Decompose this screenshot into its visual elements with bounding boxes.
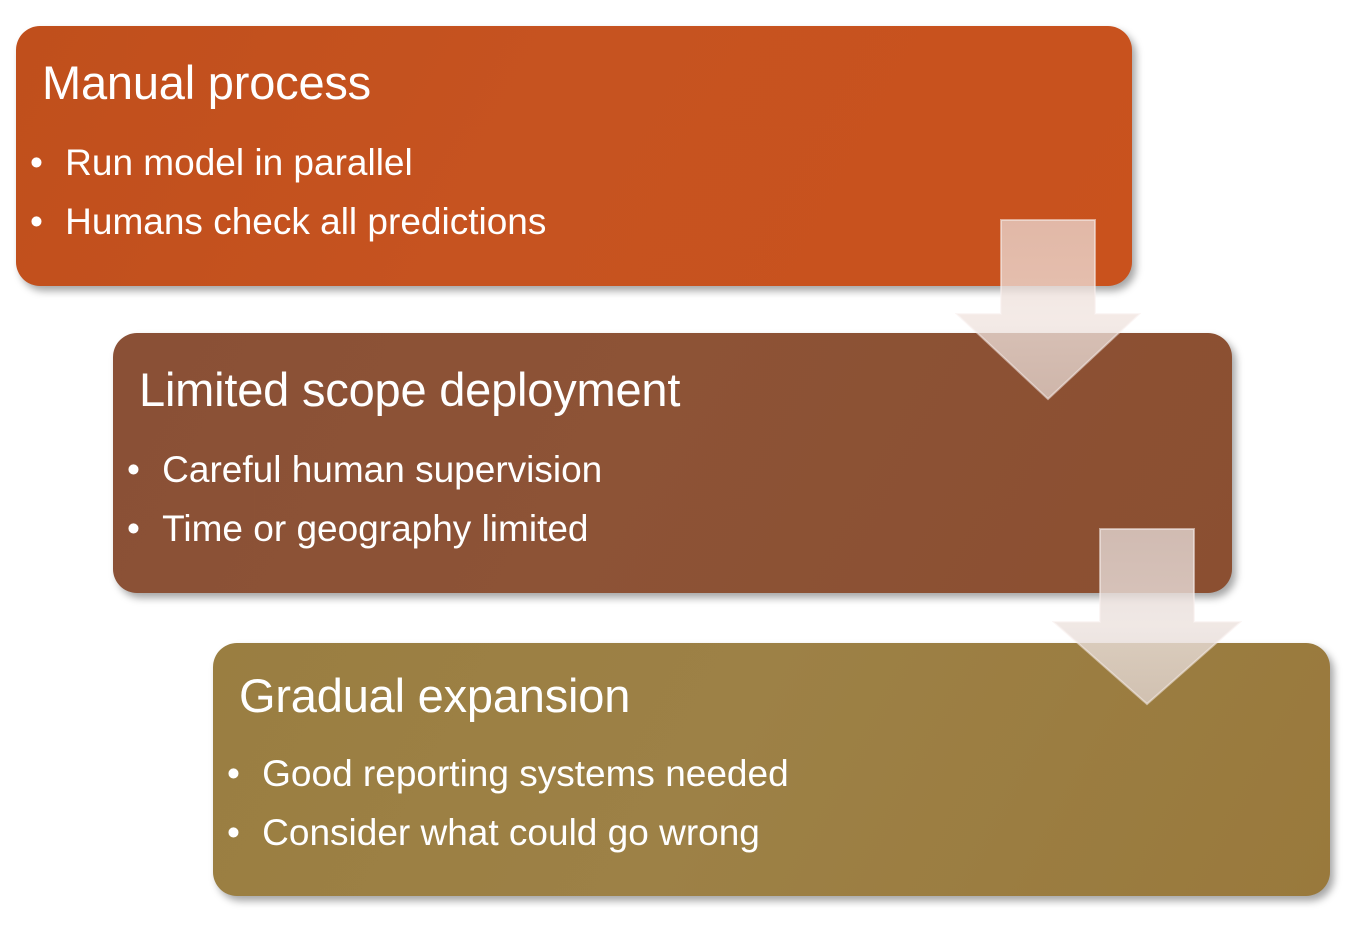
stage-box-manual-process[interactable]: Manual process • Run model in parallel •… — [16, 26, 1132, 286]
list-item: • Humans check all predictions — [30, 203, 546, 240]
bullet-point-icon: • — [30, 203, 65, 240]
list-item: • Consider what could go wrong — [227, 814, 789, 851]
bullet-label: Consider what could go wrong — [262, 814, 760, 851]
stage-title-gradual-expansion: Gradual expansion — [239, 671, 630, 720]
bullet-point-icon: • — [227, 814, 262, 851]
stage-bullet-list-limited-scope-deployment: • Careful human supervision • Time or ge… — [127, 451, 602, 569]
bullet-label: Time or geography limited — [162, 510, 588, 547]
stage-title-limited-scope-deployment: Limited scope deployment — [139, 365, 680, 414]
list-item: • Time or geography limited — [127, 510, 602, 547]
list-item: • Run model in parallel — [30, 144, 546, 181]
stage-bullet-list-gradual-expansion: • Good reporting systems needed • Consid… — [227, 755, 789, 873]
process-flow-diagram: Manual process • Run model in parallel •… — [0, 0, 1358, 928]
list-item: • Good reporting systems needed — [227, 755, 789, 792]
bullet-point-icon: • — [227, 755, 262, 792]
stage-box-limited-scope-deployment[interactable]: Limited scope deployment • Careful human… — [113, 333, 1232, 593]
bullet-label: Careful human supervision — [162, 451, 602, 488]
list-item: • Careful human supervision — [127, 451, 602, 488]
bullet-label: Run model in parallel — [65, 144, 413, 181]
stage-box-gradual-expansion[interactable]: Gradual expansion • Good reporting syste… — [213, 643, 1330, 896]
bullet-label: Good reporting systems needed — [262, 755, 789, 792]
stage-bullet-list-manual-process: • Run model in parallel • Humans check a… — [30, 144, 546, 262]
stage-title-manual-process: Manual process — [42, 58, 371, 107]
bullet-label: Humans check all predictions — [65, 203, 546, 240]
bullet-point-icon: • — [127, 451, 162, 488]
bullet-point-icon: • — [30, 144, 65, 181]
bullet-point-icon: • — [127, 510, 162, 547]
